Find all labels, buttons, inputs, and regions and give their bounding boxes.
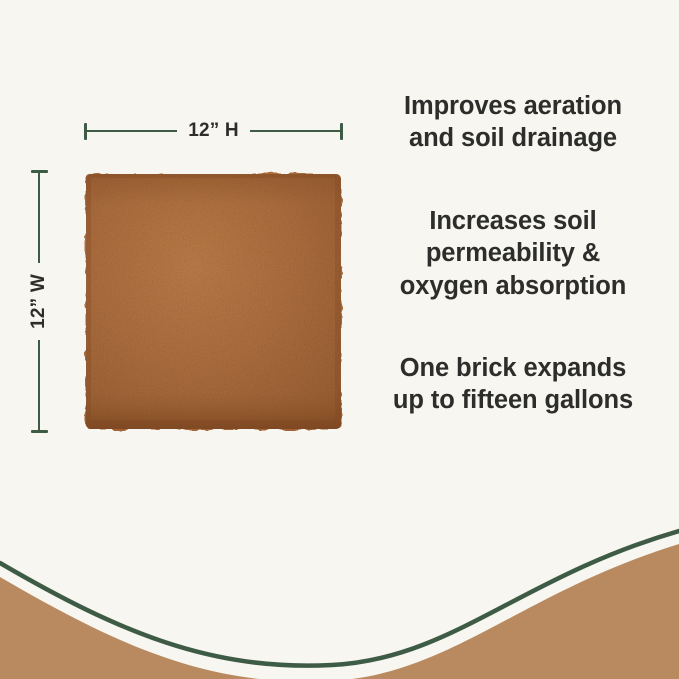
benefit-item-permeability: Increases soil permeability & oxygen abs… [358,205,668,302]
brick-illustration [81,169,346,434]
ruler-end-cap-bottom [31,430,48,433]
benefits-list: Improves aeration and soil drainage Incr… [358,74,668,417]
benefit-item-expansion: One brick expands up to fifteen gallons [358,352,668,417]
width-dimension-ruler: 12” W [24,170,54,433]
ruler-line-right [250,130,340,132]
ruler-line-bottom [38,340,40,430]
benefit-line: and soil drainage [358,122,668,154]
benefit-line: up to fifteen gallons [358,384,668,416]
height-dimension-label: 12” H [177,120,250,142]
infographic-canvas: 12” H 12” W [0,0,679,679]
benefit-line: One brick expands [358,352,668,384]
benefit-line: permeability & [358,237,668,269]
coco-coir-brick-image [81,169,346,434]
benefit-item-aeration: Improves aeration and soil drainage [358,90,668,155]
soil-fill [0,544,679,679]
height-dimension-ruler: 12” H [84,117,343,145]
soil-wave-decoration [0,519,679,679]
benefit-line: Increases soil [358,205,668,237]
ruler-end-cap-right [340,123,343,140]
benefit-line: oxygen absorption [358,270,668,302]
wave-graphic [0,519,679,679]
ruler-line-left [87,130,177,132]
ruler-line-top [38,173,40,263]
benefit-line: Improves aeration [358,90,668,122]
width-dimension-label: 12” W [28,263,50,340]
